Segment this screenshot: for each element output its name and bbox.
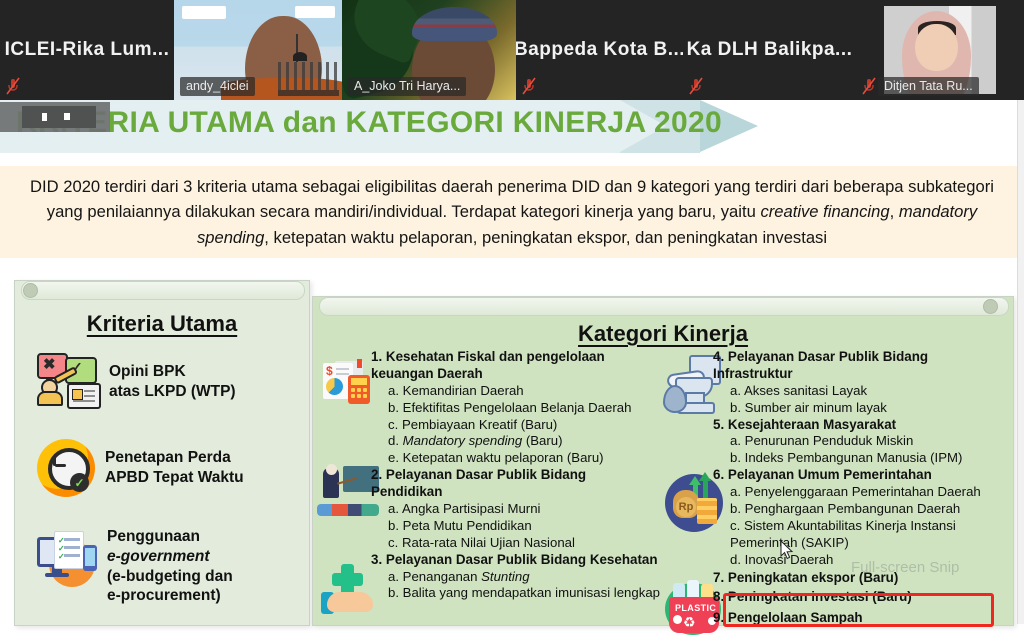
kategori-item-5-number: 5. (713, 417, 724, 432)
participant-name: ICLEI-Rika Lum... (5, 39, 170, 61)
mic-muted-icon (6, 77, 20, 95)
participant-tile-4[interactable]: Bappeda Kota B... (516, 0, 683, 100)
sub-text: (Baru) (522, 433, 562, 448)
kriteria-item-1-text: Opini BPK atas LKPD (WTP) (109, 362, 236, 402)
kategori-sub: a. Kemandirian Daerah (388, 383, 661, 400)
snipping-toolbar-remnant (0, 102, 110, 132)
sub-text: Kemandirian Daerah (403, 383, 524, 398)
kriteria-item-3-line1: Penggunaan (107, 527, 233, 547)
kategori-sub: a. Akses sanitasi Layak (730, 383, 1001, 400)
sub-italic: Stunting (481, 569, 529, 584)
shared-screen-slide: KRITERIA UTAMA dan KATEGORI KINERJA 2020… (0, 100, 1024, 624)
sub-text: Angka Partisipasi Murni (402, 501, 541, 516)
sub-letter: b. (730, 400, 741, 415)
sub-text: Penyelenggaraan Pemerintahan Daerah (745, 484, 981, 499)
kategori-item-4-title: Pelayanan Dasar Publik Bidang Infrastruk… (713, 349, 928, 381)
sub-letter: c. (388, 417, 398, 432)
sub-text: Efektifitas Pengelolaan Belanja Daerah (403, 400, 632, 415)
fiscal-chart-icon: $ (321, 359, 377, 411)
kategori-sub: b. Sumber air minum layak (730, 400, 1001, 417)
kriteria-item-2-line1: Penetapan Perda (105, 448, 244, 468)
kriteria-item-3-line3: (e-budgeting dan (107, 567, 233, 587)
zoom-participant-filmstrip[interactable]: ICLEI-Rika Lum... andy_4iclei A_Joko Tri… (0, 0, 1024, 100)
kategori-kinerja-heading: Kategori Kinerja (313, 321, 1013, 347)
participant-tile-3[interactable]: A_Joko Tri Harya... (342, 0, 516, 100)
intro-part2: , (890, 202, 899, 221)
education-icon (317, 464, 379, 518)
health-hand-icon (321, 564, 377, 614)
sub-text: Indeks Pembangunan Manusia (IPM) (745, 450, 963, 465)
panel-roll-top (21, 281, 305, 300)
kriteria-utama-heading: Kriteria Utama (25, 311, 299, 337)
opini-bpk-icon: ✖ ✓ (37, 353, 99, 411)
kategori-item-8-number: 8. (713, 589, 724, 604)
sub-letter: d. (730, 552, 741, 567)
kategori-item-1-number: 1. (371, 349, 382, 364)
kategori-kinerja-panel: Kategori Kinerja $ (312, 296, 1014, 626)
kategori-sub: a. Penurunan Penduduk Miskin (730, 433, 1001, 450)
mic-muted-icon (862, 77, 876, 95)
kategori-item-8: 8. Peningkatan investasi (Baru) (713, 589, 1001, 606)
panel-roll-knob (23, 283, 38, 298)
sub-letter: c. (730, 518, 740, 533)
kategori-sub: b. Peta Mutu Pendidikan (388, 518, 661, 535)
kategori-sub: b. Indeks Pembangunan Manusia (IPM) (730, 450, 1001, 467)
participant-tile-1[interactable]: ICLEI-Rika Lum... (0, 0, 174, 100)
kategori-sub: e. Ketepatan waktu pelaporan (Baru) (388, 450, 661, 467)
kriteria-item-3-text: Penggunaan e-government (e-budgeting dan… (107, 527, 233, 606)
kategori-item-5: 5. Kesejahteraan Masyarakat a. Penurunan… (713, 417, 1001, 468)
kriteria-item-1-line1: Opini BPK (109, 362, 236, 382)
kategori-sub: c. Sistem Akuntabilitas Kinerja Instansi… (730, 518, 1001, 552)
sub-letter: b. (388, 518, 399, 533)
kriteria-item-3-line4: e-procurement) (107, 586, 233, 606)
kategori-sub: c. Rata-rata Nilai Ujian Nasional (388, 535, 661, 552)
participant-tile-5[interactable]: Ka DLH Balikpa... (683, 0, 856, 100)
kategori-sub: c. Pembiayaan Kreatif (Baru) (388, 417, 661, 434)
sub-letter: e. (388, 450, 399, 465)
sub-text: Peta Mutu Pendidikan (403, 518, 532, 533)
participant-name-label: Ditjen Tata Ru... (878, 77, 979, 96)
kategori-item-6-title: Pelayanan Umum Pemerintahan (728, 467, 932, 482)
kategori-sub: b. Penghargaan Pembangunan Daerah (730, 501, 1001, 518)
kriteria-item-1: ✖ ✓ Opini BPK atas LKPD (WTP) (37, 353, 299, 411)
participant-tile-2[interactable]: andy_4iclei (174, 0, 342, 100)
kriteria-item-3: ✓ ✓ ✓ Penggunaan e-government (e-budgeti… (37, 527, 299, 606)
kategori-item-6-number: 6. (713, 467, 724, 482)
slide-title: KRITERIA UTAMA dan KATEGORI KINERJA 2020 (16, 106, 722, 140)
sub-letter: b. (388, 585, 399, 600)
kategori-item-8-title: Peningkatan investasi (Baru) (728, 589, 912, 604)
kategori-sub: b. Efektifitas Pengelolaan Belanja Daera… (388, 400, 661, 417)
kriteria-item-2-line2: APBD Tepat Waktu (105, 468, 244, 488)
kategori-sub: a. Penyelenggaraan Pemerintahan Daerah (730, 484, 1001, 501)
kategori-list-left: 1. Kesehatan Fiskal dan pengelolaan keua… (371, 349, 661, 602)
kategori-item-3-title: Pelayanan Dasar Publik Bidang Kesehatan (386, 552, 658, 567)
sub-letter: d. (388, 433, 399, 448)
sub-text: Penurunan Penduduk Miskin (745, 433, 914, 448)
kategori-item-6: 6. Pelayanan Umum Pemerintahan a. Penyel… (713, 467, 1001, 568)
slide-banner: KRITERIA UTAMA dan KATEGORI KINERJA 2020 (0, 100, 760, 153)
sub-text: Penanganan (403, 569, 481, 584)
kriteria-item-1-line2: atas LKPD (WTP) (109, 382, 236, 402)
participant-name-label: andy_4iclei (180, 77, 255, 96)
sub-text: Balita yang mendapatkan imunisasi lengka… (403, 585, 660, 600)
sub-letter: c. (388, 535, 398, 550)
kategori-item-9-number: 9. (713, 610, 724, 625)
kategori-sub: b. Balita yang mendapatkan imunisasi len… (388, 585, 661, 602)
mic-muted-icon (689, 77, 703, 95)
sub-text: Rata-rata Nilai Ujian Nasional (402, 535, 575, 550)
mouse-cursor (780, 540, 794, 560)
slide-intro-text: DID 2020 terdiri dari 3 kriteria utama s… (29, 174, 995, 250)
kategori-item-3: 3. Pelayanan Dasar Publik Bidang Kesehat… (371, 552, 661, 603)
clock-check-icon: ✓ (37, 439, 95, 497)
participant-name-label: A_Joko Tri Harya... (348, 77, 466, 96)
participant-name: Bappeda Kota B... (516, 39, 683, 61)
kategori-item-1: 1. Kesehatan Fiskal dan pengelolaan keua… (371, 349, 661, 467)
kategori-item-2-number: 2. (371, 467, 382, 482)
kategori-column-left: $ (313, 349, 661, 627)
e-government-icon: ✓ ✓ ✓ (37, 531, 97, 587)
sub-letter: b. (730, 501, 741, 516)
sub-letter: a. (730, 484, 741, 499)
participant-name: Ka DLH Balikpa... (687, 39, 853, 61)
sub-letter: a. (730, 383, 741, 398)
kategori-item-1-title: Kesehatan Fiskal dan pengelolaan keuanga… (371, 349, 605, 381)
sub-text: Akses sanitasi Layak (744, 383, 867, 398)
kategori-item-9: 9. Pengelolaan Sampah (713, 610, 1001, 627)
kategori-item-3-number: 3. (371, 552, 382, 567)
kriteria-item-2: ✓ Penetapan Perda APBD Tepat Waktu (37, 439, 299, 497)
sub-text: Penghargaan Pembangunan Daerah (745, 501, 961, 516)
kategori-item-2: 2. Pelayanan Dasar Publik Bidang Pendidi… (371, 467, 661, 551)
participant-tile-6[interactable]: Ditjen Tata Ru... (856, 0, 1024, 100)
intro-part3: , ketepatan waktu pelaporan, peningkatan… (264, 228, 827, 247)
sub-letter: a. (388, 501, 399, 516)
sub-letter: a. (388, 383, 399, 398)
kriteria-item-2-text: Penetapan Perda APBD Tepat Waktu (105, 448, 244, 488)
panel-roll-knob (983, 299, 998, 314)
page-edge-scrollbar[interactable] (1017, 100, 1024, 624)
sub-text: Ketepatan waktu pelaporan (Baru) (403, 450, 604, 465)
kategori-sub: d. Mandatory spending (Baru) (388, 433, 661, 450)
sub-letter: b. (730, 450, 741, 465)
sub-italic: Mandatory spending (403, 433, 523, 448)
sub-letter: a. (388, 569, 399, 584)
kategori-list-right: 4. Pelayanan Dasar Publik Bidang Infrast… (713, 349, 1001, 627)
sub-text: Pembiayaan Kreatif (Baru) (402, 417, 557, 432)
kriteria-utama-panel: Kriteria Utama ✖ ✓ Opini BPK atas LKPD (… (14, 280, 310, 626)
sub-letter: b. (388, 400, 399, 415)
kategori-item-4-number: 4. (713, 349, 724, 364)
sub-text: Sistem Akuntabilitas Kinerja Instansi Pe… (730, 518, 956, 550)
snip-watermark: Full-screen Snip (851, 559, 959, 576)
kategori-item-5-title: Kesejahteraan Masyarakat (728, 417, 896, 432)
intro-em1: creative financing (760, 202, 889, 221)
sub-letter: a. (730, 433, 741, 448)
kategori-item-4: 4. Pelayanan Dasar Publik Bidang Infrast… (713, 349, 1001, 417)
mic-muted-icon (522, 77, 536, 95)
kategori-column-right: Rp PLASTIC ♻ 4. Pelayanan Dasar Publik B… (661, 349, 1001, 627)
kategori-sub: a. Angka Partisipasi Murni (388, 501, 661, 518)
kategori-item-9-title: Pengelolaan Sampah (728, 610, 863, 625)
kriteria-item-3-line2: e-government (107, 547, 233, 567)
slide-intro-block: DID 2020 terdiri dari 3 kriteria utama s… (0, 166, 1024, 258)
kategori-item-2-title: Pelayanan Dasar Publik Bidang Pendidikan (371, 467, 586, 499)
kategori-item-7-number: 7. (713, 570, 724, 585)
kategori-sub: a. Penanganan Stunting (388, 569, 661, 586)
sub-text: Sumber air minum layak (745, 400, 887, 415)
